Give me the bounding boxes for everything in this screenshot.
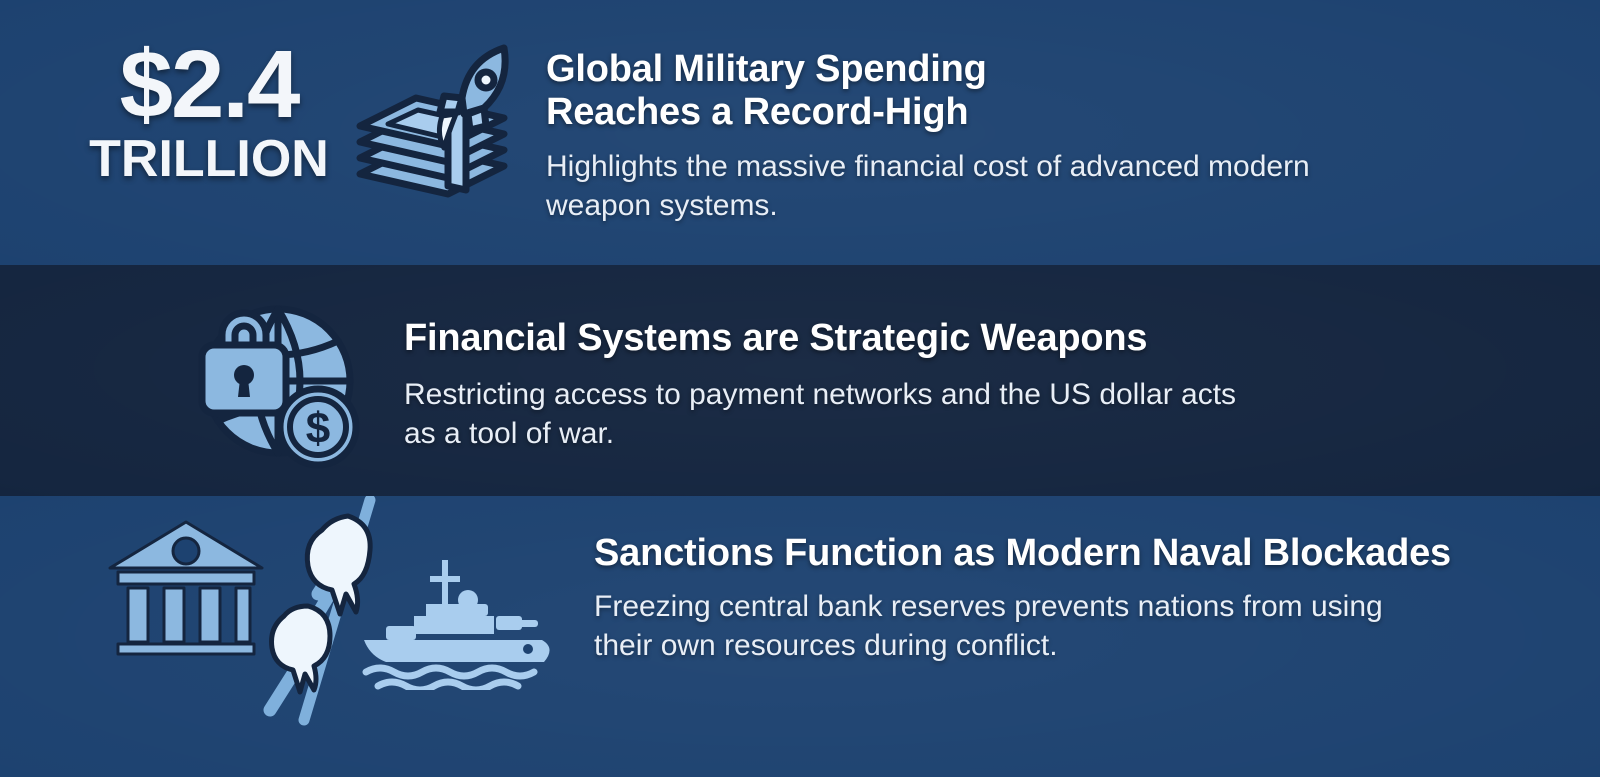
row-3-subline: Freezing central bank reserves prevents … <box>594 587 1574 665</box>
row-2-headline: Financial Systems are Strategic Weapons <box>404 317 1454 360</box>
row-1-subline: Highlights the massive financial cost of… <box>546 147 1446 225</box>
infographic-root: $2.4 TRILLION <box>0 0 1600 777</box>
row-2-text-block: Financial Systems are Strategic Weapons … <box>404 317 1454 453</box>
frozen-chain-icon <box>252 496 400 726</box>
stat-value: $2.4 <box>78 36 340 134</box>
row-sanctions: Sanctions Function as Modern Naval Block… <box>0 496 1600 777</box>
bank-building-icon <box>104 514 268 662</box>
stat-block: $2.4 TRILLION <box>78 36 340 187</box>
stat-unit: TRILLION <box>78 132 340 187</box>
rocket-money-stack-icon <box>344 42 520 218</box>
row-1-text-block: Global Military Spending Reaches a Recor… <box>546 48 1446 225</box>
row-military-spending: $2.4 TRILLION <box>0 0 1600 265</box>
row-financial-systems: $ Financial Systems are Strategic Weapon… <box>0 265 1600 496</box>
globe-lock-dollar-icon: $ <box>178 287 370 473</box>
svg-text:$: $ <box>306 404 330 453</box>
row-3-headline: Sanctions Function as Modern Naval Block… <box>594 532 1574 575</box>
row-3-text-block: Sanctions Function as Modern Naval Block… <box>594 532 1574 665</box>
row-2-subline: Restricting access to payment networks a… <box>404 375 1454 453</box>
row-1-headline: Global Military Spending Reaches a Recor… <box>546 48 1446 134</box>
